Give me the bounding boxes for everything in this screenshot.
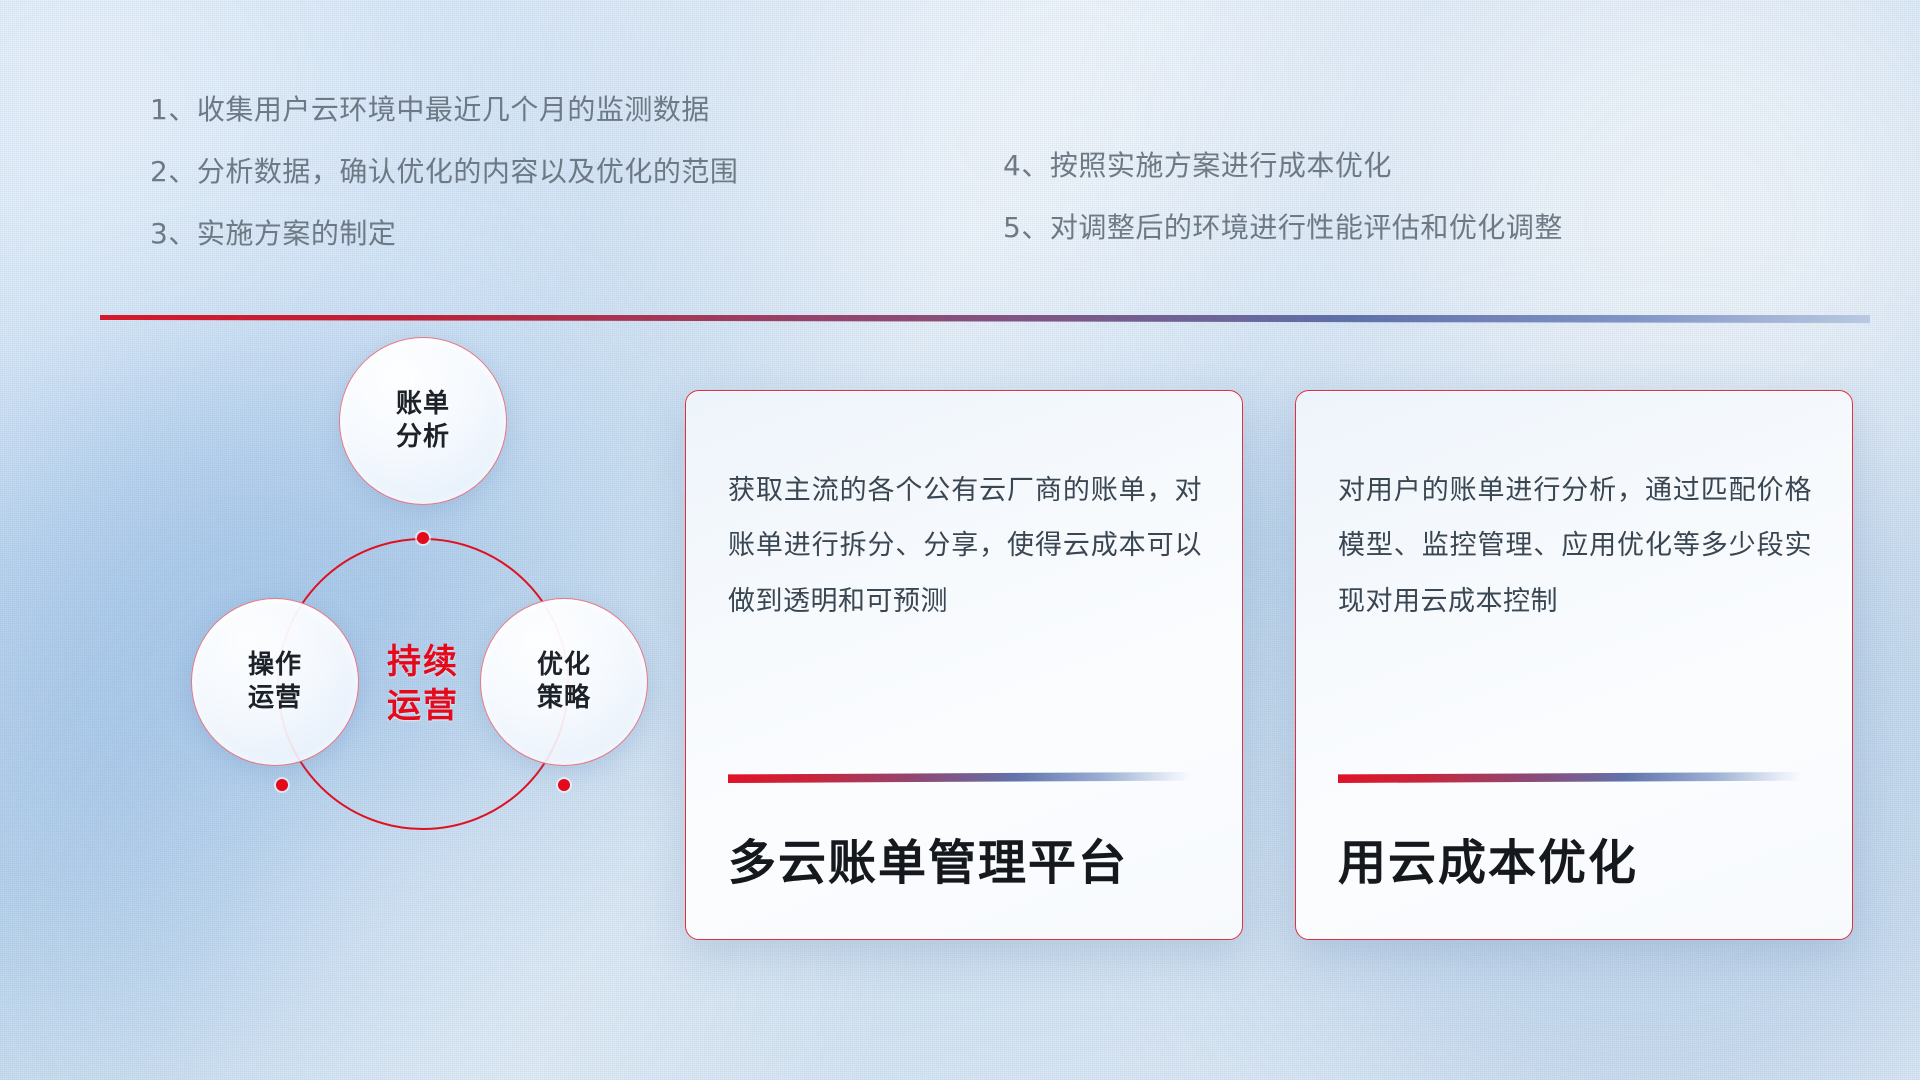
card-1-title: 多云账单管理平台 — [728, 823, 1202, 893]
step-item-5: 5、对调整后的环境进行性能评估和优化调整 — [1003, 214, 1563, 242]
step-item-4: 4、按照实施方案进行成本优化 — [1003, 152, 1563, 180]
card-1-divider — [728, 772, 1192, 783]
card-2-title: 用云成本优化 — [1338, 823, 1812, 893]
card-2-body-text: 对用户的账单进行分析，通过匹配价格模型、监控管理、应用优化等多少段实现对用云成本… — [1338, 463, 1812, 629]
steps-left-column: 1、收集用户云环境中最近几个月的监测数据 2、分析数据，确认优化的内容以及优化的… — [150, 96, 738, 282]
venn-node-top-line1: 账单 — [396, 388, 450, 421]
venn-connector-dot-right — [558, 779, 570, 791]
venn-connector-dot-top — [417, 532, 429, 544]
step-item-3: 3、实施方案的制定 — [150, 220, 738, 248]
venn-node-right-line2: 策略 — [537, 682, 591, 715]
venn-node-operations-label: 操作 运营 — [248, 649, 302, 716]
venn-connector-dot-left — [276, 779, 288, 791]
card-1-divider-shape — [728, 772, 1192, 783]
card-1-content: 获取主流的各个公有云厂商的账单，对账单进行拆分、分享，使得云成本可以做到透明和可… — [686, 391, 1242, 939]
card-2-content: 对用户的账单进行分析，通过匹配价格模型、监控管理、应用优化等多少段实现对用云成本… — [1296, 391, 1852, 939]
card-cloud-cost-optimization[interactable]: 对用户的账单进行分析，通过匹配价格模型、监控管理、应用优化等多少段实现对用云成本… — [1295, 390, 1853, 940]
step-item-2: 2、分析数据，确认优化的内容以及优化的范围 — [150, 158, 738, 186]
venn-node-billing-analysis-label: 账单 分析 — [396, 388, 450, 455]
venn-node-top-line2: 分析 — [396, 421, 450, 454]
card-2-divider-shape — [1338, 772, 1802, 783]
venn-node-optimization-strategy-label: 优化 策略 — [537, 649, 591, 716]
card-2-divider — [1338, 772, 1802, 783]
steps-right-column: 4、按照实施方案进行成本优化 5、对调整后的环境进行性能评估和优化调整 — [1003, 152, 1563, 276]
venn-node-billing-analysis[interactable]: 账单 分析 — [339, 337, 507, 505]
venn-center-label-line2: 运营 — [387, 684, 459, 728]
venn-node-optimization-strategy[interactable]: 优化 策略 — [480, 598, 648, 766]
card-1-body-text: 获取主流的各个公有云厂商的账单，对账单进行拆分、分享，使得云成本可以做到透明和可… — [728, 463, 1202, 629]
venn-node-right-line1: 优化 — [537, 649, 591, 682]
venn-node-left-line1: 操作 — [248, 649, 302, 682]
section-divider-shape — [100, 315, 1870, 323]
venn-node-left-line2: 运营 — [248, 682, 302, 715]
step-item-1: 1、收集用户云环境中最近几个月的监测数据 — [150, 96, 738, 124]
venn-center-label-line1: 持续 — [387, 640, 459, 684]
venn-node-operations[interactable]: 操作 运营 — [191, 598, 359, 766]
card-multicloud-billing-platform[interactable]: 获取主流的各个公有云厂商的账单，对账单进行拆分、分享，使得云成本可以做到透明和可… — [685, 390, 1243, 940]
section-divider-rule — [100, 315, 1870, 323]
venn-diagram: 持续 运营 账单 分析 操作 运营 优化 策略 — [80, 355, 580, 935]
